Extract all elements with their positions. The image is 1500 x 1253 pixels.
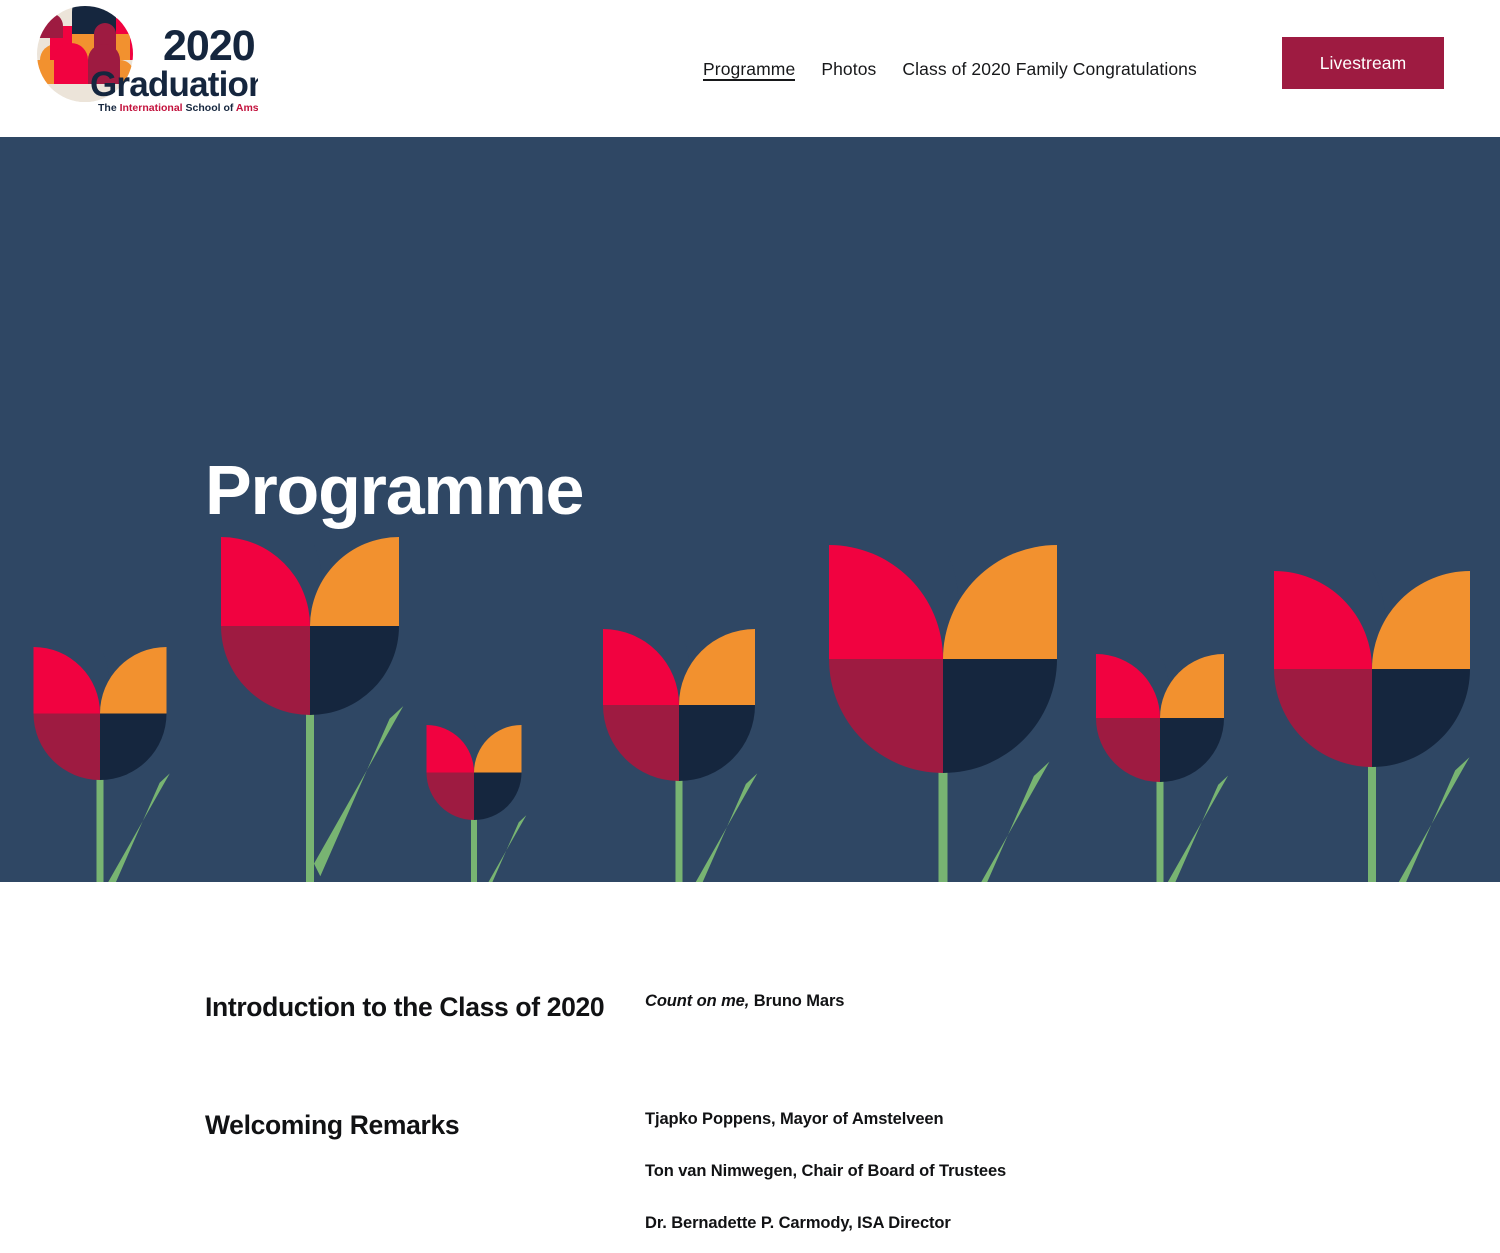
tulip-petal-bottom-left <box>1096 718 1160 782</box>
song-title: Count on me, <box>645 992 749 1010</box>
svg-text:2020: 2020 <box>163 22 255 70</box>
programme-item-details: Tjapko Poppens, Mayor of Amstelveen Ton … <box>645 1110 1006 1233</box>
nav-item-programme[interactable]: Programme <box>690 54 808 84</box>
programme-detail-line: Dr. Bernadette P. Carmody, ISA Director <box>645 1214 1006 1233</box>
programme-row: Introduction to the Class of 2020 Count … <box>0 992 1500 1023</box>
tulip-petal-bottom-right <box>310 626 399 715</box>
nav-item-family-congratulations[interactable]: Class of 2020 Family Congratulations <box>889 54 1209 84</box>
tulip-petal-bottom-right <box>679 705 755 781</box>
site-logo[interactable]: 2020 Graduation The International School… <box>28 4 258 116</box>
tulip-petal-bottom-right <box>474 773 522 821</box>
programme-item-title: Introduction to the Class of 2020 <box>0 992 645 1023</box>
tulip-stem <box>306 690 314 882</box>
tulip-petal-bottom-left <box>829 659 943 773</box>
tulip-petal-bottom-right <box>1372 669 1470 767</box>
programme-row: Welcoming Remarks Tjapko Poppens, Mayor … <box>0 1110 1500 1233</box>
programme-detail-line: Ton van Nimwegen, Chair of Board of Trus… <box>645 1162 1006 1181</box>
programme-detail-line: Count on me, Bruno Mars <box>645 992 844 1011</box>
site-header: 2020 Graduation The International School… <box>0 0 1500 137</box>
tulip-petal-bottom-left <box>1274 669 1372 767</box>
livestream-button[interactable]: Livestream <box>1282 37 1444 89</box>
tulip-leaf <box>1376 757 1470 882</box>
tulip-petal-top-right <box>1372 571 1470 669</box>
isa-graduation-circle-logo-svg: 2020 Graduation The International School… <box>28 4 258 116</box>
tulip-petal-bottom-left <box>34 714 101 781</box>
song-artist: Bruno Mars <box>749 992 844 1010</box>
tulip-petal-top-right <box>679 629 755 705</box>
tulip-petal-bottom-right <box>100 714 167 781</box>
tulip-petal-bottom-left <box>603 705 679 781</box>
tulip-petal-top-right <box>474 725 522 773</box>
nav-item-photos[interactable]: Photos <box>808 54 889 84</box>
tulip-petal-bottom-right <box>1160 718 1224 782</box>
tulip-leaf <box>477 815 526 882</box>
tulip-leaf <box>948 762 1050 882</box>
hero-banner: Programme <box>0 137 1500 882</box>
tulip-petal-bottom-right <box>943 659 1057 773</box>
tulip-illustration-row <box>0 462 1500 882</box>
tulip-leaf <box>104 773 170 882</box>
programme-item-title: Welcoming Remarks <box>0 1110 645 1233</box>
svg-text:Graduation: Graduation <box>90 65 258 104</box>
tulip-leaf <box>1164 776 1229 882</box>
tulip-petal-top-right <box>100 647 167 714</box>
programme-detail-line: Tjapko Poppens, Mayor of Amstelveen <box>645 1110 1006 1129</box>
programme-content: Introduction to the Class of 2020 Count … <box>0 882 1500 1253</box>
tulip-petal-top-right <box>310 537 399 626</box>
programme-item-details: Count on me, Bruno Mars <box>645 992 844 1023</box>
tulip-leaf <box>314 706 403 876</box>
tulip-petal-top-right <box>1160 654 1224 718</box>
svg-text:The International School of Am: The International School of Amsterdam <box>98 102 258 114</box>
tulip-petal-bottom-left <box>427 773 475 821</box>
main-navigation: Programme Photos Class of 2020 Family Co… <box>690 0 1210 137</box>
tulip-petal-top-right <box>943 545 1057 659</box>
tulip-leaf <box>683 773 758 882</box>
tulip-petal-bottom-left <box>221 626 310 715</box>
